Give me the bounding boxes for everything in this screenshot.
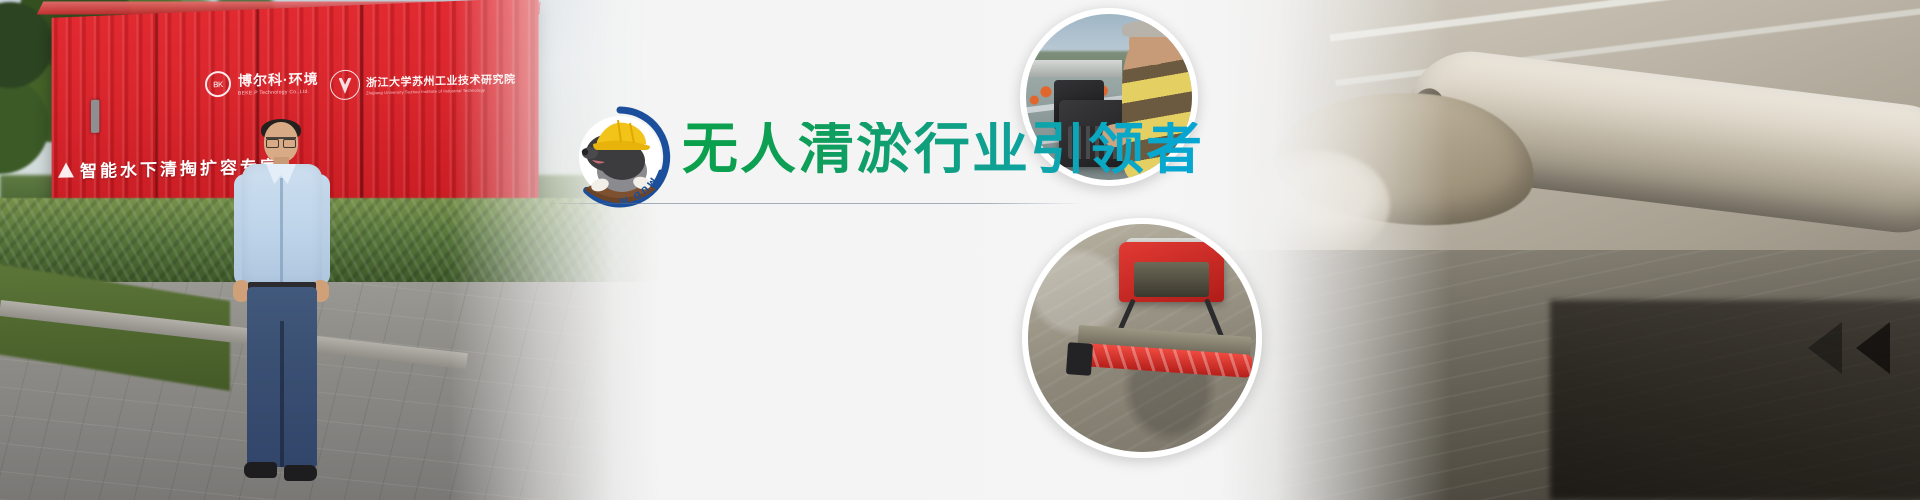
headline-divider <box>544 203 1082 204</box>
brand-mark-icon: BK <box>205 71 231 98</box>
person-shoe-left <box>244 462 277 478</box>
chevron-arrow-icon <box>1808 322 1842 374</box>
container-seam <box>155 13 158 210</box>
person-trousers <box>247 287 317 467</box>
person-shoe-right <box>284 465 317 481</box>
container-door-handle <box>91 100 99 133</box>
brand-text-block: 博尔科·环境 BEKE.P Technology Co.,Ltd. <box>238 69 319 97</box>
container-seam <box>360 5 363 207</box>
brand-name-cn: 博尔科·环境 <box>238 69 319 91</box>
right-photo-sludge-pipe <box>1220 0 1920 500</box>
person-shirt-placket <box>280 178 283 283</box>
container-brand-lockup: BK 博尔科·环境 BEKE.P Technology Co.,Ltd. <box>205 69 319 98</box>
triangle-bullet-icon <box>58 162 74 177</box>
university-seal-icon <box>330 70 360 101</box>
hero-banner: BK 博尔科·环境 BEKE.P Technology Co.,Ltd. 浙江大… <box>0 0 1920 500</box>
mud-mole-logo[interactable]: MUD MOLE <box>566 103 674 211</box>
glasses-icon <box>266 137 296 144</box>
person-engineer <box>228 122 338 497</box>
banner-headline: 无人清淤行业引领者 <box>682 122 1204 178</box>
chevron-arrow-icon <box>1856 322 1890 374</box>
center-content: MUD MOLE 无人清淤行业引领者 <box>540 0 1160 500</box>
